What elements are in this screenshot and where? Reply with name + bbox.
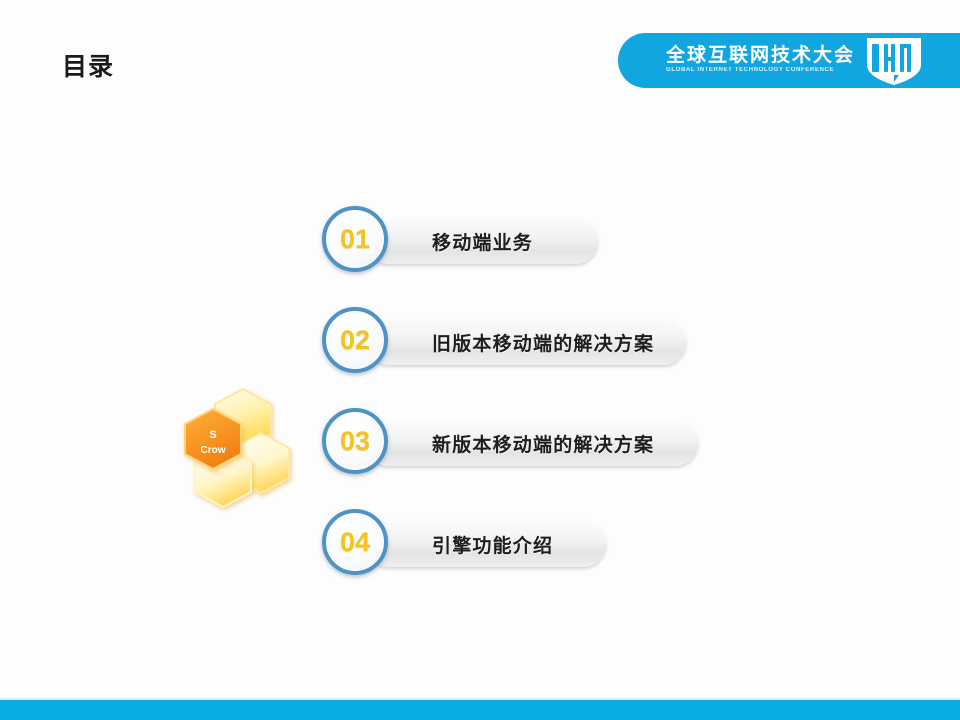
agenda-pill-01[interactable]: 移动端业务 <box>366 218 598 264</box>
brand-text-group: 全球互联网技术大会 GLOBAL INTERNET TECHNOLOGY CON… <box>666 46 855 74</box>
footer-bar <box>0 700 960 720</box>
slide-canvas: 目录 全球互联网技术大会 GLOBAL INTERNET TECHNOLOGY … <box>0 0 960 720</box>
agenda-badge-02[interactable]: 02 <box>322 307 388 373</box>
honeycomb-label-bottom: Crow <box>201 445 226 456</box>
gitc-logo-icon <box>863 35 925 87</box>
brand-banner: 全球互联网技术大会 GLOBAL INTERNET TECHNOLOGY CON… <box>618 33 960 88</box>
agenda-label-02: 旧版本移动端的解决方案 <box>432 329 654 356</box>
agenda-item-01[interactable]: 移动端业务 01 <box>322 206 752 280</box>
agenda-badge-03[interactable]: 03 <box>322 408 388 474</box>
brand-name-english: GLOBAL INTERNET TECHNOLOGY CONFERENCE <box>666 66 859 74</box>
agenda-number-03: 03 <box>340 428 370 455</box>
agenda-item-04[interactable]: 引擎功能介绍 04 <box>322 509 752 583</box>
honeycomb-decoration-icon: S Crow <box>183 383 298 513</box>
honeycomb-label-top: S <box>209 429 216 441</box>
agenda-number-01: 01 <box>340 226 370 253</box>
agenda-label-01: 移动端业务 <box>432 228 533 255</box>
agenda-pill-04[interactable]: 引擎功能介绍 <box>366 521 606 567</box>
agenda-list: 移动端业务 01 旧版本移动端的解决方案 02 新版本移动端的解决方案 03 <box>322 206 752 583</box>
agenda-item-03[interactable]: 新版本移动端的解决方案 03 <box>322 408 752 482</box>
brand-name-chinese: 全球互联网技术大会 <box>666 46 855 66</box>
agenda-item-02[interactable]: 旧版本移动端的解决方案 02 <box>322 307 752 381</box>
agenda-label-03: 新版本移动端的解决方案 <box>432 430 654 457</box>
agenda-number-04: 04 <box>340 529 370 556</box>
agenda-pill-02[interactable]: 旧版本移动端的解决方案 <box>366 319 686 365</box>
agenda-pill-03[interactable]: 新版本移动端的解决方案 <box>366 420 698 466</box>
agenda-label-04: 引擎功能介绍 <box>432 531 553 558</box>
page-title: 目录 <box>62 52 114 82</box>
agenda-number-02: 02 <box>340 327 370 354</box>
agenda-badge-04[interactable]: 04 <box>322 509 388 575</box>
agenda-badge-01[interactable]: 01 <box>322 206 388 272</box>
